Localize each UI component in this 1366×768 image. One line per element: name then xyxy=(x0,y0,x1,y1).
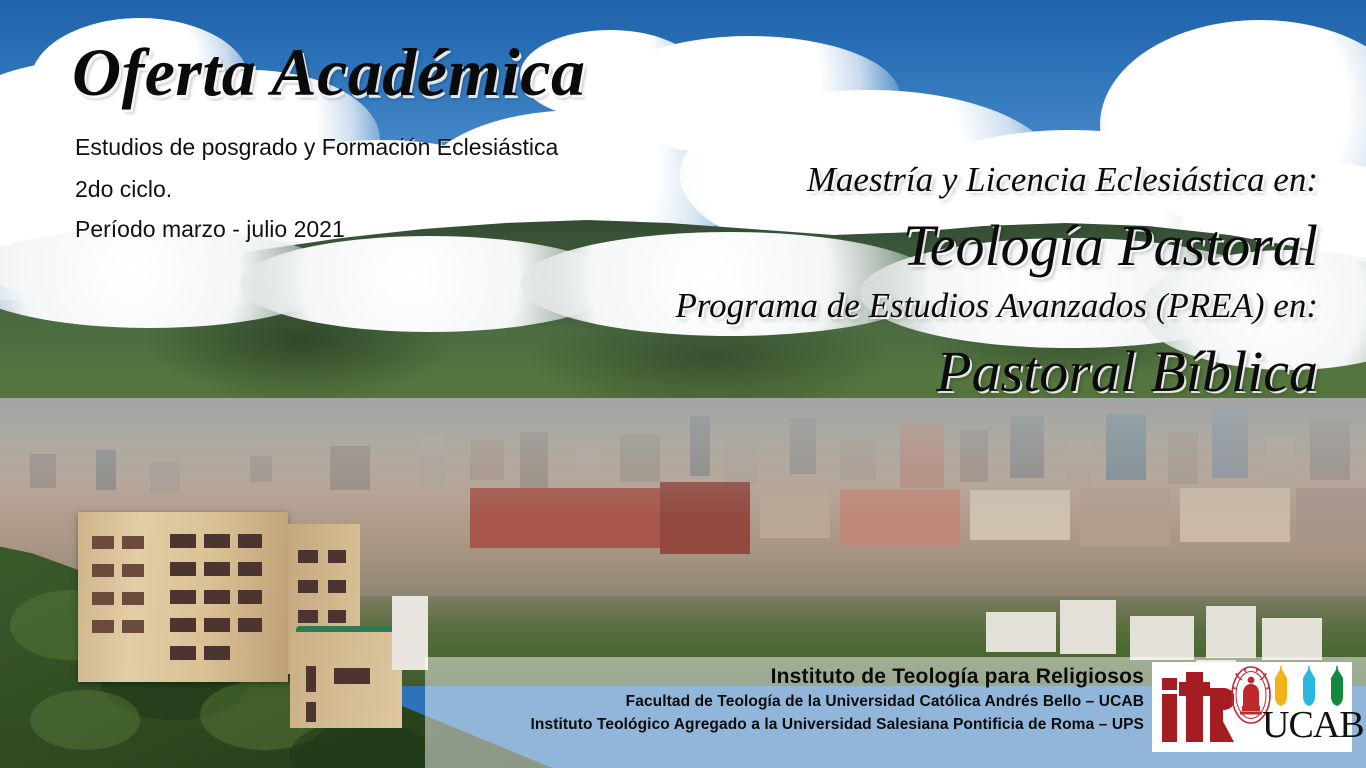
villa-building xyxy=(290,632,402,728)
program-1-name: Teología Pastoral xyxy=(903,212,1318,279)
ucab-three-leaves-icon xyxy=(1268,666,1350,708)
foreground-apartment-building xyxy=(78,512,288,682)
logo-box: UCAB xyxy=(1152,662,1352,752)
itr-monogram-icon xyxy=(1160,668,1234,748)
subtitle-line-2: 2do ciclo. xyxy=(75,176,172,203)
institute-name: Instituto de Teología para Religiosos xyxy=(444,663,1144,691)
program-2-name: Pastoral Bíblica xyxy=(936,338,1318,405)
subtitle-line-1: Estudios de posgrado y Formación Eclesiá… xyxy=(75,134,558,161)
city-haze xyxy=(0,398,1366,518)
affiliation-line-1: Facultad de Teología de la Universidad C… xyxy=(444,691,1144,713)
program-2-label: Programa de Estudios Avanzados (PREA) en… xyxy=(675,286,1318,326)
subtitle-line-3: Período marzo - julio 2021 xyxy=(75,216,345,243)
program-1-label: Maestría y Licencia Eclesiástica en: xyxy=(807,160,1318,200)
footer-text-block: Instituto de Teología para Religiosos Fa… xyxy=(444,663,1144,736)
affiliation-line-2: Instituto Teológico Agregado a la Univer… xyxy=(444,714,1144,736)
white-tower xyxy=(392,596,428,670)
poster-canvas: Oferta Académica Estudios de posgrado y … xyxy=(0,0,1366,768)
page-title: Oferta Académica xyxy=(72,38,585,106)
ucab-wordmark: UCAB xyxy=(1262,706,1364,744)
